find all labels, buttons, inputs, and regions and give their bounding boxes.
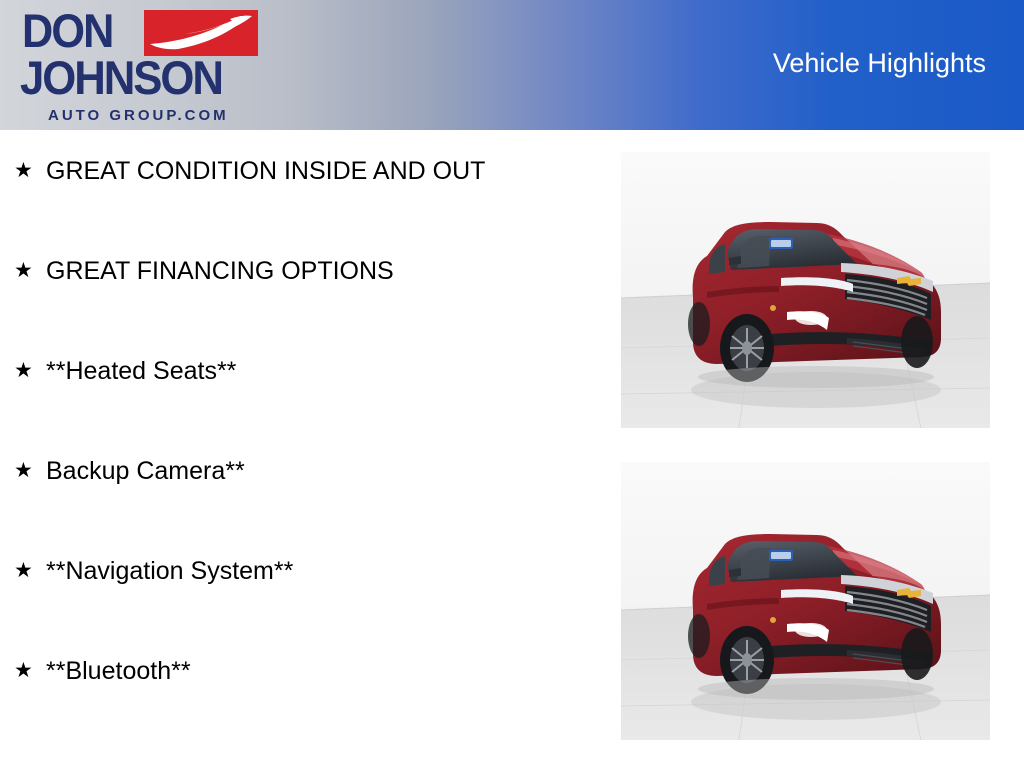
star-icon: ★ xyxy=(14,354,46,387)
list-item: ★ **Bluetooth** xyxy=(14,654,574,688)
star-icon: ★ xyxy=(14,554,46,587)
star-icon: ★ xyxy=(14,254,46,287)
list-item: ★ GREAT CONDITION INSIDE AND OUT xyxy=(14,154,574,188)
list-item: ★ GREAT FINANCING OPTIONS xyxy=(14,254,574,288)
star-icon: ★ xyxy=(14,654,46,687)
logo-tagline: AUTO GROUP.COM xyxy=(48,108,229,124)
list-item-label: **Heated Seats** xyxy=(46,354,236,388)
list-item-label: GREAT CONDITION INSIDE AND OUT xyxy=(46,154,485,188)
swoosh-icon xyxy=(144,10,258,56)
page-header: DON JOHNSON AUTO GROUP.COM Vehicle Highl… xyxy=(0,0,1024,130)
logo-text-don: DON xyxy=(22,6,113,56)
vehicle-highlights-list: ★ GREAT CONDITION INSIDE AND OUT ★ GREAT… xyxy=(0,130,600,768)
vehicle-photo-front-quarter-1[interactable] xyxy=(621,152,990,428)
page-content: ★ GREAT CONDITION INSIDE AND OUT ★ GREAT… xyxy=(0,130,1024,768)
list-item-label: **Navigation System** xyxy=(46,554,293,588)
list-item: ★ **Navigation System** xyxy=(14,554,574,588)
list-item: ★ Backup Camera** xyxy=(14,454,574,488)
dealer-logo[interactable]: DON JOHNSON AUTO GROUP.COM xyxy=(10,4,260,128)
list-item-label: Backup Camera** xyxy=(46,454,245,488)
list-item-label: GREAT FINANCING OPTIONS xyxy=(46,254,394,288)
list-item: ★ **Heated Seats** xyxy=(14,354,574,388)
vehicle-image-1 xyxy=(621,152,990,428)
logo-text-johnson: JOHNSON xyxy=(20,53,222,103)
vehicle-photo-front-quarter-2[interactable] xyxy=(621,462,990,740)
logo-red-badge xyxy=(144,10,258,56)
vehicle-image-2 xyxy=(621,462,990,740)
page-title: Vehicle Highlights xyxy=(773,48,986,79)
star-icon: ★ xyxy=(14,154,46,187)
list-item-label: **Bluetooth** xyxy=(46,654,191,688)
star-icon: ★ xyxy=(14,454,46,487)
